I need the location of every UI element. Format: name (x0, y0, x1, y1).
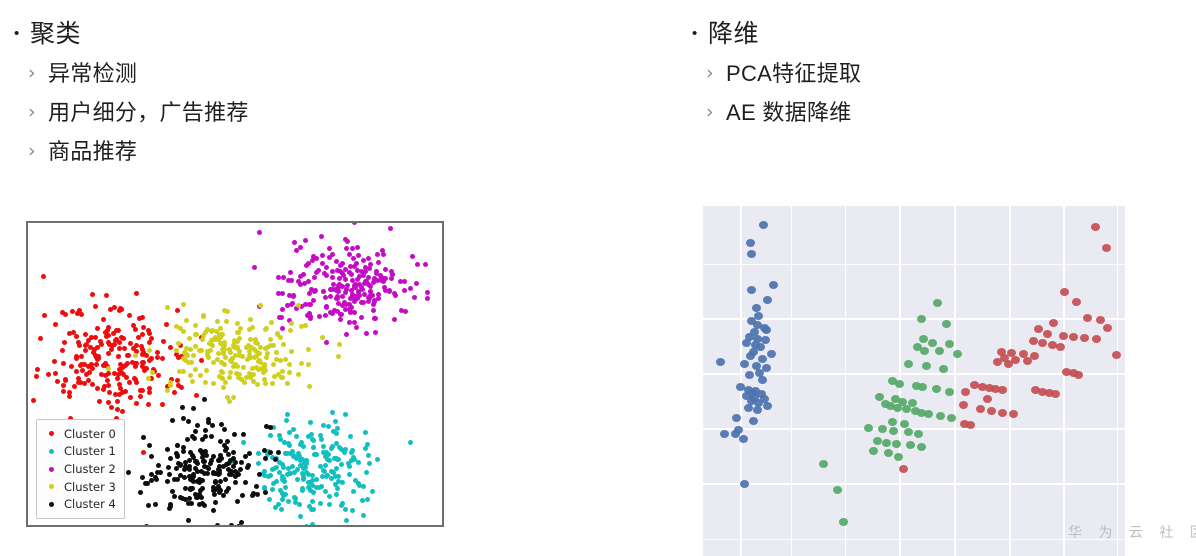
scatter-point (189, 360, 194, 365)
scatter-point (209, 458, 214, 463)
scatter-point (246, 463, 251, 468)
scatter-point (918, 383, 927, 391)
scatter-point (300, 486, 305, 491)
scatter-point (133, 353, 138, 358)
scatter-point (211, 508, 216, 513)
scatter-point (361, 258, 366, 263)
scatter-point (316, 268, 321, 273)
scatter-point (272, 374, 277, 379)
scatter-point (833, 486, 842, 494)
scatter-point (747, 286, 756, 294)
scatter-point (165, 447, 170, 452)
scatter-point (95, 386, 100, 391)
scatter-point (301, 477, 306, 482)
scatter-point (1074, 371, 1083, 379)
scatter-point (257, 230, 262, 235)
scatter-point (345, 239, 350, 244)
scatter-point (160, 402, 165, 407)
scatter-point (763, 296, 772, 304)
scatter-point (76, 376, 81, 381)
scatter-point (351, 489, 356, 494)
scatter-point (60, 348, 65, 353)
scatter-point (188, 347, 193, 352)
scatter-point (140, 347, 145, 352)
scatter-point (117, 367, 122, 372)
scatter-point (215, 523, 220, 527)
scatter-point (106, 366, 111, 371)
scatter-point (218, 479, 223, 484)
scatter-point (254, 484, 259, 489)
scatter-point (922, 362, 931, 370)
scatter-point (107, 390, 112, 395)
scatter-point (123, 389, 128, 394)
scatter-point (144, 524, 149, 527)
scatter-point (749, 417, 758, 425)
scatter-point (904, 360, 913, 368)
scatter-point (288, 270, 293, 275)
scatter-point (270, 467, 275, 472)
scatter-point (205, 471, 210, 476)
scatter-point (186, 419, 191, 424)
scatter-point (218, 326, 223, 331)
scatter-point (878, 425, 887, 433)
scatter-point (165, 305, 170, 310)
scatter-point (132, 376, 137, 381)
sub-bullet-item: › AE 数据降维 (706, 93, 1152, 132)
scatter-point (206, 417, 211, 422)
scatter-point (344, 518, 349, 523)
scatter-point (117, 382, 122, 387)
scatter-point (819, 460, 828, 468)
scatter-point (324, 340, 329, 345)
scatter-point (187, 458, 192, 463)
sub-bullet-item: › 商品推荐 (28, 132, 614, 171)
scatter-point (746, 352, 755, 360)
scatter-point (344, 246, 349, 251)
scatter-point (146, 376, 151, 381)
scatter-point (181, 416, 186, 421)
gridline-vertical (1117, 206, 1119, 556)
scatter-point (170, 418, 175, 423)
scatter-point (80, 368, 85, 373)
scatter-point (740, 480, 749, 488)
scatter-point (217, 487, 222, 492)
scatter-point (271, 343, 276, 348)
scatter-point (308, 420, 313, 425)
scatter-point (335, 309, 340, 314)
scatter-point (203, 380, 208, 385)
scatter-point (224, 319, 229, 324)
scatter-point (199, 348, 204, 353)
scatter-point (884, 449, 893, 457)
scatter-point (190, 379, 195, 384)
scatter-point (383, 267, 388, 272)
scatter-point (181, 445, 186, 450)
scatter-point (1043, 330, 1052, 338)
scatter-point (919, 335, 928, 343)
scatter-point (381, 252, 386, 257)
scatter-point (223, 380, 228, 385)
scatter-point (357, 483, 362, 488)
scatter-point (414, 281, 419, 286)
scatter-point (993, 358, 1002, 366)
chart-legend: Cluster 0Cluster 1Cluster 2Cluster 3Clus… (36, 419, 125, 519)
scatter-point (323, 489, 328, 494)
scatter-point (98, 339, 103, 344)
scatter-point (146, 503, 151, 508)
scatter-point (231, 450, 236, 455)
scatter-point (334, 492, 339, 497)
scatter-point (255, 492, 260, 497)
scatter-point (300, 457, 305, 462)
scatter-point (119, 307, 124, 312)
scatter-point (147, 390, 152, 395)
scatter-point (412, 295, 417, 300)
scatter-point (109, 347, 114, 352)
scatter-point (256, 461, 261, 466)
legend-item: Cluster 2 (43, 460, 116, 478)
scatter-point (185, 437, 190, 442)
scatter-point (255, 382, 260, 387)
scatter-point (141, 450, 146, 455)
scatter-point (720, 430, 729, 438)
scatter-point (321, 289, 326, 294)
scatter-point (241, 432, 246, 437)
scatter-point (294, 248, 299, 253)
scatter-point (330, 269, 335, 274)
scatter-point (232, 432, 237, 437)
scatter-point (134, 401, 139, 406)
scatter-point (227, 375, 232, 380)
scatter-point (149, 454, 154, 459)
scatter-point (155, 355, 160, 360)
scatter-point (134, 291, 139, 296)
scatter-point (402, 288, 407, 293)
scatter-point (310, 483, 315, 488)
scatter-point (1023, 357, 1032, 365)
scatter-point (1059, 332, 1068, 340)
scatter-point (38, 336, 43, 341)
scatter-point (226, 461, 231, 466)
scatter-point (361, 513, 366, 518)
scatter-point (167, 472, 172, 477)
scatter-point (126, 353, 131, 358)
scatter-point (363, 430, 368, 435)
scatter-point (52, 359, 57, 364)
scatter-point (248, 355, 253, 360)
scatter-point (153, 502, 158, 507)
scatter-point (60, 310, 65, 315)
scatter-point (1056, 343, 1065, 351)
scatter-point (295, 477, 300, 482)
scatter-point (959, 401, 968, 409)
scatter-point (716, 358, 725, 366)
scatter-point (175, 308, 180, 313)
scatter-point (149, 478, 154, 483)
scatter-point (262, 448, 267, 453)
scatter-point (83, 332, 88, 337)
scatter-point (191, 406, 196, 411)
scatter-point (42, 313, 47, 318)
scatter-point (271, 481, 276, 486)
scatter-point (287, 362, 292, 367)
scatter-point (101, 317, 106, 322)
legend-label: Cluster 0 (64, 427, 116, 441)
scatter-point (289, 278, 294, 283)
scatter-point (290, 301, 295, 306)
scatter-point (355, 245, 360, 250)
scatter-point (287, 430, 292, 435)
scatter-point (127, 380, 132, 385)
scatter-point (122, 346, 127, 351)
scatter-point (350, 246, 355, 251)
scatter-point (133, 327, 138, 332)
scatter-point (415, 262, 420, 267)
scatter-point (195, 423, 200, 428)
scatter-point (186, 501, 191, 506)
scatter-point (270, 381, 275, 386)
scatter-point (917, 443, 926, 451)
scatter-point (174, 352, 179, 357)
scatter-point (188, 373, 193, 378)
scatter-point (61, 361, 66, 366)
scatter-point (262, 485, 267, 490)
scatter-point (302, 281, 307, 286)
scatter-point (408, 286, 413, 291)
scatter-point (241, 440, 246, 445)
scatter-point (224, 446, 229, 451)
scatter-point (917, 315, 926, 323)
scatter-point (1102, 244, 1111, 252)
scatter-point (193, 323, 198, 328)
scatter-point (219, 456, 224, 461)
legend-swatch-icon (49, 449, 54, 454)
scatter-point (763, 402, 772, 410)
scatter-point (248, 317, 253, 322)
scatter-point (172, 390, 177, 395)
scatter-point (79, 312, 84, 317)
scatter-point (174, 324, 179, 329)
scatter-point (116, 354, 121, 359)
scatter-point (882, 439, 891, 447)
scatter-point (93, 335, 98, 340)
scatter-point (74, 356, 79, 361)
scatter-point (932, 385, 941, 393)
scatter-point (147, 443, 152, 448)
gridline-horizontal (703, 264, 1125, 266)
scatter-point (175, 453, 180, 458)
scatter-point (895, 380, 904, 388)
scatter-point (364, 331, 369, 336)
scatter-point (1034, 325, 1043, 333)
scatter-point (106, 333, 111, 338)
scatter-point (1060, 288, 1069, 296)
scatter-point (347, 307, 352, 312)
scatter-point (172, 494, 177, 499)
scatter-point (61, 389, 66, 394)
scatter-point (55, 379, 60, 384)
scatter-point (753, 406, 762, 414)
scatter-point (72, 384, 77, 389)
legend-label: Cluster 1 (64, 444, 116, 458)
scatter-point (343, 412, 348, 417)
scatter-point (138, 490, 143, 495)
sub-bullet-label: PCA特征提取 (726, 54, 861, 93)
scatter-point (335, 426, 340, 431)
scatter-point (268, 425, 273, 430)
scatter-point (235, 499, 240, 504)
scatter-point (119, 335, 124, 340)
scatter-point (289, 321, 294, 326)
gridline-vertical (1009, 206, 1011, 556)
scatter-point (902, 405, 911, 413)
gridline-vertical (1063, 206, 1065, 556)
scatter-point (71, 330, 76, 335)
scatter-point (280, 369, 285, 374)
scatter-point (307, 384, 312, 389)
scatter-point (337, 342, 342, 347)
scatter-point (1029, 337, 1038, 345)
scatter-point (280, 491, 285, 496)
pca-scatter-chart (703, 206, 1125, 556)
gridline-vertical (740, 206, 742, 556)
scatter-point (346, 461, 351, 466)
scatter-point (231, 395, 236, 400)
scatter-point (147, 358, 152, 363)
scatter-point (360, 498, 365, 503)
scatter-point (117, 346, 122, 351)
scatter-point (213, 480, 218, 485)
scatter-point (330, 410, 335, 415)
scatter-point (247, 327, 252, 332)
scatter-point (263, 381, 268, 386)
legend-label: Cluster 2 (64, 462, 116, 476)
scatter-point (356, 460, 361, 465)
scatter-point (311, 445, 316, 450)
scatter-point (296, 279, 301, 284)
scatter-point (894, 453, 903, 461)
scatter-point (83, 348, 88, 353)
scatter-point (327, 255, 332, 260)
scatter-point (363, 280, 368, 285)
scatter-point (276, 275, 281, 280)
scatter-point (94, 362, 99, 367)
scatter-point (320, 253, 325, 258)
scatter-point (95, 357, 100, 362)
scatter-point (200, 437, 205, 442)
scatter-point (370, 489, 375, 494)
scatter-point (365, 497, 370, 502)
scatter-point (339, 462, 344, 467)
scatter-point (1083, 314, 1092, 322)
legend-item: Cluster 4 (43, 495, 116, 513)
scatter-point (338, 317, 343, 322)
bullet-heading-label: 聚类 (30, 14, 81, 54)
scatter-point (317, 485, 322, 490)
scatter-point (97, 399, 102, 404)
gridline-horizontal (703, 539, 1125, 541)
scatter-point (286, 499, 291, 504)
scatter-point (201, 314, 206, 319)
scatter-point (899, 465, 908, 473)
scatter-point (324, 474, 329, 479)
scatter-point (236, 524, 241, 527)
scatter-point (205, 327, 210, 332)
scatter-point (327, 246, 332, 251)
scatter-point (46, 372, 51, 377)
scatter-point (425, 290, 430, 295)
scatter-point (137, 316, 142, 321)
scatter-point (147, 348, 152, 353)
scatter-point (268, 433, 273, 438)
scatter-point (983, 395, 992, 403)
bullet-dot-icon: • (14, 14, 30, 54)
scatter-point (976, 405, 985, 413)
scatter-point (222, 427, 227, 432)
scatter-point (225, 439, 230, 444)
scatter-point (383, 288, 388, 293)
scatter-point (142, 368, 147, 373)
scatter-point (229, 357, 234, 362)
scatter-point (352, 296, 357, 301)
sub-bullet-label: 用户细分，广告推荐 (48, 93, 249, 132)
legend-swatch-icon (49, 502, 54, 507)
scatter-point (1072, 298, 1081, 306)
chevron-right-icon: › (706, 54, 726, 93)
scatter-point (233, 474, 238, 479)
scatter-point (328, 310, 333, 315)
scatter-point (869, 447, 878, 455)
scatter-point (219, 422, 224, 427)
scatter-point (161, 339, 166, 344)
scatter-point (739, 435, 748, 443)
scatter-point (225, 309, 230, 314)
scatter-point (762, 326, 771, 334)
scatter-point (175, 443, 180, 448)
scatter-point (186, 518, 191, 523)
scatter-point (280, 326, 285, 331)
scatter-point (166, 465, 171, 470)
scatter-point (961, 388, 970, 396)
scatter-point (69, 364, 74, 369)
scatter-point (257, 351, 262, 356)
scatter-point (126, 470, 131, 475)
scatter-point (229, 523, 234, 527)
scatter-point (251, 372, 256, 377)
scatter-point (314, 256, 319, 261)
scatter-point (210, 423, 215, 428)
scatter-point (154, 477, 159, 482)
scatter-point (269, 320, 274, 325)
scatter-point (67, 394, 72, 399)
scatter-point (888, 418, 897, 426)
scatter-point (389, 276, 394, 281)
scatter-point (312, 289, 317, 294)
scatter-point (79, 354, 84, 359)
cluster-scatter-chart: Cluster 0Cluster 1Cluster 2Cluster 3Clus… (26, 221, 444, 527)
scatter-point (732, 414, 741, 422)
scatter-point (165, 479, 170, 484)
scatter-point (213, 500, 218, 505)
scatter-point (752, 304, 761, 312)
scatter-point (345, 283, 350, 288)
scatter-point (311, 438, 316, 443)
scatter-point (187, 336, 192, 341)
scatter-point (215, 319, 220, 324)
scatter-point (138, 394, 143, 399)
scatter-point (403, 309, 408, 314)
scatter-point (393, 293, 398, 298)
